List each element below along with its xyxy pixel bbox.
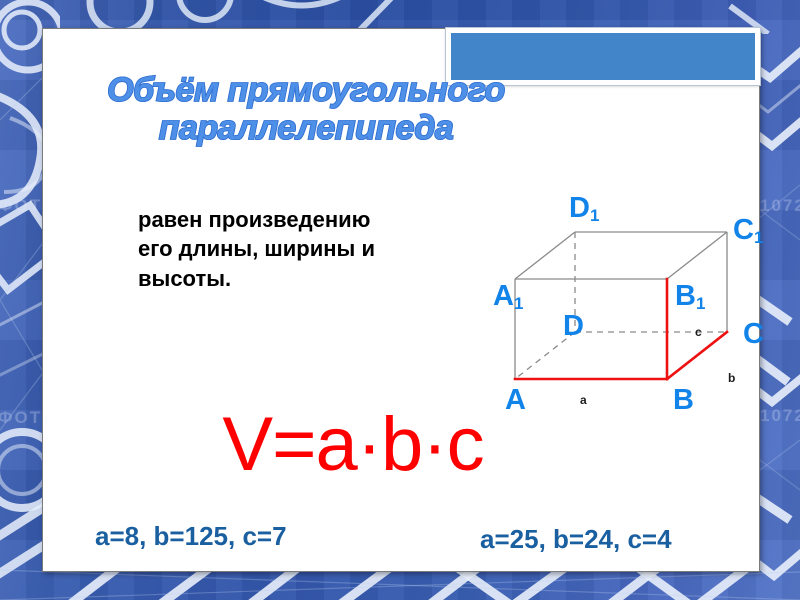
slide-content-card: Объём прямоугольного параллелепипеда рав… [42,28,760,572]
title-line-2: параллелепипеда [91,109,521,147]
title-line-1: Объём прямоугольного [107,71,505,109]
volume-formula: V=a·b·c [43,407,663,483]
vertex-label-C1: C1 [733,216,763,245]
example-values-left: a=8, b=125, c=7 [95,521,287,552]
page-title: Объём прямоугольного параллелепипеда [91,71,521,147]
edge-length-label-c: c [695,326,702,338]
vertex-label-D: D [563,312,584,341]
vertex-label-C: C [743,320,764,349]
edge-D1-A1 [515,232,575,279]
parallelepiped-diagram: D1 C1 A1 B1 D C A B a b c [483,194,800,429]
vertex-label-B1: B1 [675,282,705,311]
edge-length-label-b: b [728,372,735,384]
edge-length-label-a: a [580,394,587,406]
edge-B-C-highlight [667,332,727,379]
edge-B1-C1 [667,232,727,279]
presentation-slide: ФОТО ФОТО 1072 1072 Объём прямоугольного… [0,0,800,600]
vertex-label-A1: A1 [493,282,523,311]
vertex-label-B: B [673,386,694,415]
definition-text: равен произведению его длины, ширины и в… [138,205,378,293]
vertex-label-D1: D1 [569,194,599,223]
example-values-right: a=25, b=24, c=4 [480,524,672,555]
